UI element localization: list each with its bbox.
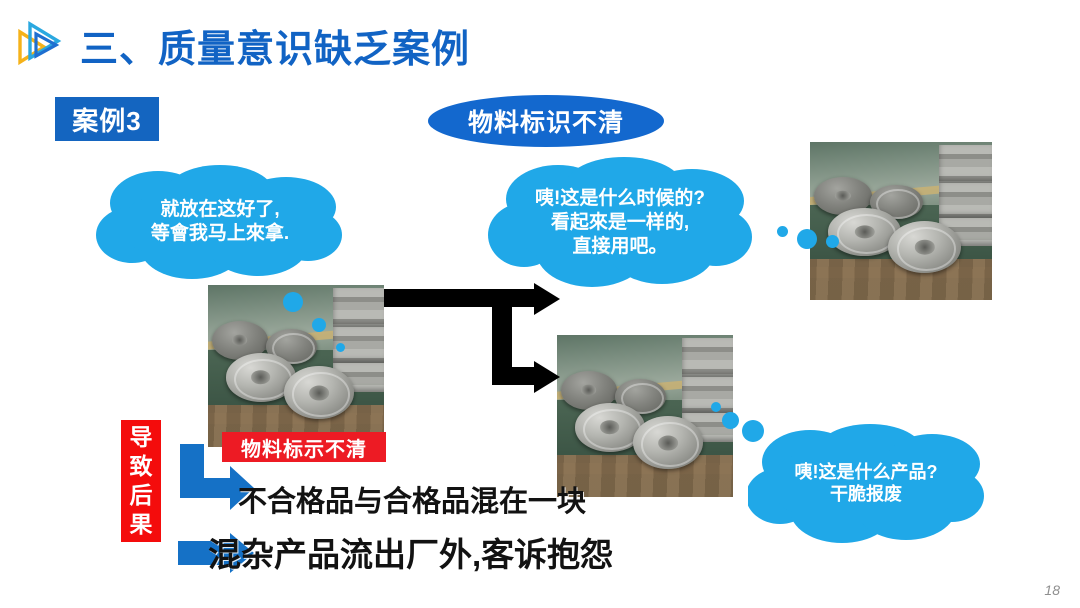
bubble-tail-dot	[826, 235, 839, 248]
consequence-char: 后	[130, 484, 153, 507]
consequence-char: 致	[130, 455, 153, 478]
case-number-badge: 案例3	[55, 97, 159, 141]
bubble-tail-dot	[711, 402, 721, 412]
page-title: 三、质量意识缺乏案例	[80, 18, 470, 73]
consequence-text-1: 不合格品与合格品混在一块	[238, 478, 586, 520]
speech-bubble-scrap: 咦!这是什么产品? 干脆报废	[748, 422, 984, 544]
consequence-vertical-label: 导 致 后 果	[121, 420, 161, 542]
speech-bubble-inspector: 咦!这是什么时候的? 看起來是一样的, 直接用吧。	[488, 155, 752, 291]
photo-caption-badge: 物料标示不清	[222, 432, 386, 462]
speech-bubble-inspector-text: 咦!这是什么时候的? 看起來是一样的, 直接用吧。	[529, 187, 711, 258]
bubble-tail-dot	[336, 343, 345, 352]
consequence-text-2: 混杂产品流出厂外,客诉抱怨	[208, 528, 613, 576]
play-triangle-logo-icon	[14, 18, 70, 70]
speech-bubble-worker-text: 就放在这好了, 等會我马上來拿.	[145, 198, 295, 246]
bubble-tail-dot	[777, 226, 788, 237]
bubble-tail-dot	[283, 292, 303, 312]
bubble-tail-dot	[797, 229, 817, 249]
speech-bubble-scrap-text: 咦!这是什么产品? 干脆报废	[789, 461, 944, 506]
photo-wheel-rims-right	[810, 142, 992, 300]
bubble-tail-dot	[722, 412, 739, 429]
bubble-tail-dot	[312, 318, 326, 332]
speech-bubble-worker: 就放在这好了, 等會我马上來拿.	[96, 163, 344, 281]
topic-ellipse-label: 物料标识不清	[428, 95, 664, 147]
consequence-char: 果	[130, 513, 153, 536]
slide-canvas: 三、质量意识缺乏案例 案例3 物料标识不清	[0, 0, 1080, 608]
consequence-char: 导	[130, 426, 153, 449]
page-number: 18	[1044, 582, 1060, 598]
flow-arrow-black	[384, 283, 590, 414]
